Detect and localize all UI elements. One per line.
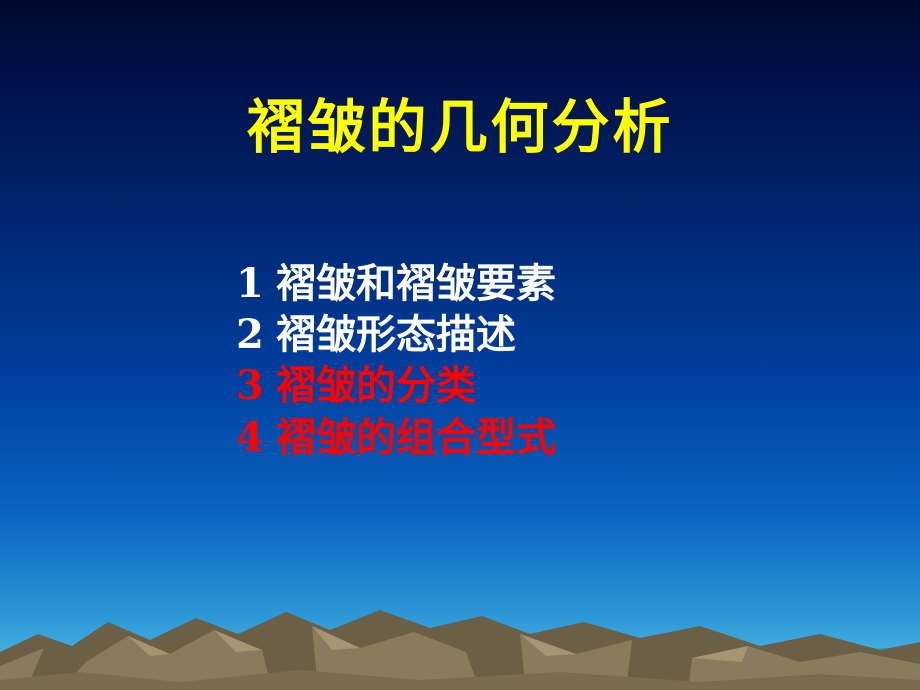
mountain-svg: [0, 530, 920, 690]
list-item: 4褶皱的组合型式: [236, 412, 796, 463]
list-item-number: 4: [236, 412, 264, 463]
list-item: 3褶皱的分类: [236, 360, 796, 411]
list-item-label: 褶皱的分类: [276, 362, 476, 409]
mountain-silhouette-graphic: [0, 530, 920, 690]
slide-canvas: 褶皱的几何分析 1褶皱和褶皱要素 2褶皱形态描述 3褶皱的分类 4褶皱的组合型式: [0, 0, 920, 690]
page-title: 褶皱的几何分析: [0, 96, 920, 160]
list-item-label: 褶皱形态描述: [276, 311, 516, 358]
list-item: 2褶皱形态描述: [236, 309, 796, 360]
list-item-label: 褶皱和褶皱要素: [276, 260, 556, 307]
agenda-list: 1褶皱和褶皱要素 2褶皱形态描述 3褶皱的分类 4褶皱的组合型式: [236, 258, 796, 463]
list-item-number: 3: [236, 360, 264, 411]
list-item-number: 1: [236, 258, 264, 309]
list-item-label: 褶皱的组合型式: [276, 414, 556, 461]
list-item-number: 2: [236, 309, 264, 360]
list-item: 1褶皱和褶皱要素: [236, 258, 796, 309]
